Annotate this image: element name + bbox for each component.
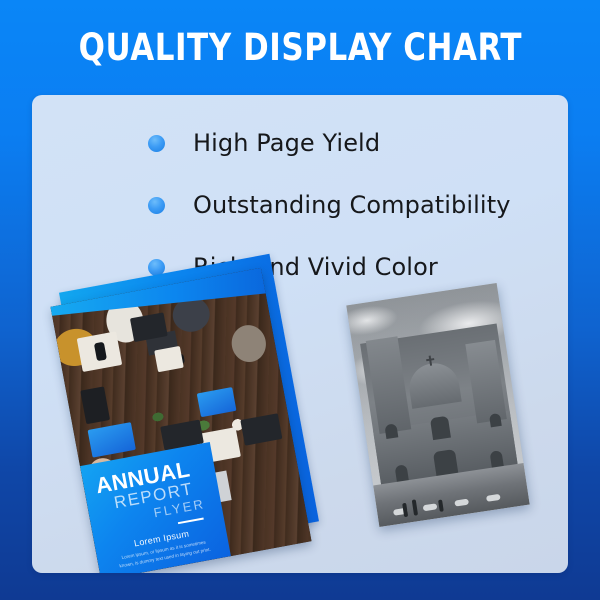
central-window [430,416,451,440]
laptop-screen [130,312,168,342]
notepad [154,346,184,372]
car [423,503,438,511]
cathedral-photo [346,283,529,527]
bullet-dot-icon [148,197,165,214]
tablet-screen [88,422,136,458]
notebook [80,386,110,424]
pedestrian [412,499,418,515]
bell-opening [489,413,502,427]
car [454,499,469,507]
right-bell-tower [465,340,506,424]
pedestrian [438,499,444,511]
flyer-divider [178,517,204,524]
content-panel: High Page Yield Outstanding Compatibilit… [32,95,568,573]
page-title: QUALITY DISPLAY CHART [78,26,521,69]
list-item: High Page Yield [148,112,548,174]
pedestrian [402,503,408,517]
poster-root: QUALITY DISPLAY CHART High Page Yield Ou… [0,0,600,600]
header-bar: QUALITY DISPLAY CHART [0,0,600,95]
tablet-screen [197,387,237,417]
flyer-title-block: ANNUAL REPORT FLYER Lorem Ipsum Lorem ip… [80,442,231,573]
car [486,494,501,502]
laptop-screen [240,413,282,445]
cross-icon [429,356,432,366]
flyer-stack: ANNUAL REPORT FLYER Lorem Ipsum Lorem ip… [60,273,360,563]
feature-label: High Page Yield [193,129,380,157]
bullet-dot-icon [148,135,165,152]
left-bell-tower [366,336,412,434]
feature-label: Outstanding Compatibility [193,191,511,219]
list-item: Outstanding Compatibility [148,174,548,236]
facade-dome [406,360,462,409]
